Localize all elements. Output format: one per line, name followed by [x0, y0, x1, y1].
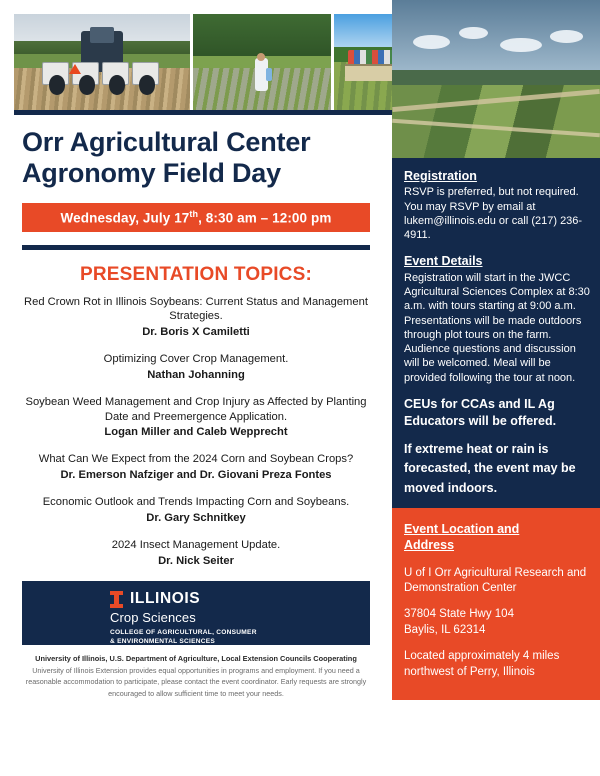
event-location-heading-line1: Event Location and [404, 521, 588, 537]
date-banner-suffix: , 8:30 am – 12:00 pm [198, 210, 331, 225]
illinois-block-i-icon [110, 591, 123, 608]
topic-item: What Can We Expect from the 2024 Corn an… [14, 452, 378, 482]
location-directions: Located approximately 4 miles northwest … [404, 649, 588, 680]
info-sidebar: Registration RSVP is preferred, but not … [392, 158, 600, 776]
page-title-line2: Agronomy Field Day [22, 158, 374, 189]
logo-college-line1: COLLEGE OF AGRICULTURAL, CONSUMER [110, 628, 257, 637]
illinois-logo-block: ILLINOIS Crop Sciences COLLEGE OF AGRICU… [22, 581, 370, 645]
topic-title: Economic Outlook and Trends Impacting Co… [14, 495, 378, 509]
topic-speaker: Dr. Gary Schnitkey [14, 511, 378, 526]
sidebar-bottom-spacer [392, 700, 600, 776]
fineprint-block: University of Illinois, U.S. Department … [20, 653, 372, 699]
date-time-banner: Wednesday, July 17th, 8:30 am – 12:00 pm [22, 203, 370, 233]
topic-title: What Can We Expect from the 2024 Corn an… [14, 452, 378, 466]
page-title-line1: Orr Agricultural Center [22, 127, 374, 158]
topics-heading: PRESENTATION TOPICS: [0, 264, 392, 286]
topic-title: Red Crown Rot in Illinois Soybeans: Curr… [14, 295, 378, 324]
title-block: Orr Agricultural Center Agronomy Field D… [0, 115, 392, 190]
page-title: Orr Agricultural Center Agronomy Field D… [22, 127, 374, 190]
aerial-farmland-photo [392, 0, 600, 158]
topic-title: Optimizing Cover Crop Management. [14, 352, 378, 366]
section-divider-rule [22, 245, 370, 250]
flyer-page: Orr Agricultural Center Agronomy Field D… [0, 0, 600, 776]
topic-title: Soybean Weed Management and Crop Injury … [14, 395, 378, 424]
location-address-line1: 37804 State Hwy 104 [404, 607, 588, 622]
main-content-column: Orr Agricultural Center Agronomy Field D… [0, 115, 392, 776]
illinois-wordmark: ILLINOIS [130, 590, 200, 608]
fineprint-accommodation-text: University of Illinois Extension provide… [20, 665, 372, 698]
ceu-note: CEUs for CCAs and IL Ag Educators will b… [404, 396, 590, 429]
fineprint-cooperating-line: University of Illinois, U.S. Department … [20, 653, 372, 664]
weather-note: If extreme heat or rain is forecasted, t… [404, 440, 590, 498]
topic-speaker: Logan Miller and Caleb Wepprecht [14, 425, 378, 440]
field-scout-photo [193, 14, 331, 110]
date-banner-superscript: th [189, 209, 198, 219]
sidebar-navy-panel: Registration RSVP is preferred, but not … [392, 158, 600, 508]
sidebar-orange-panel: Event Location and Address U of I Orr Ag… [392, 508, 600, 700]
topic-speaker: Dr. Emerson Nafziger and Dr. Giovani Pre… [14, 468, 378, 483]
topic-speaker: Dr. Boris X Camiletti [14, 325, 378, 340]
location-name: U of I Orr Agricultural Research and Dem… [404, 566, 588, 597]
registration-text: RSVP is preferred, but not required. You… [404, 185, 590, 242]
registration-heading: Registration [404, 168, 590, 184]
topic-title: 2024 Insect Management Update. [14, 538, 378, 552]
logo-unit-name: Crop Sciences [110, 610, 257, 625]
topic-item: Soybean Weed Management and Crop Injury … [14, 395, 378, 439]
topic-speaker: Nathan Johanning [14, 368, 378, 383]
topic-item: Economic Outlook and Trends Impacting Co… [14, 495, 378, 525]
event-details-text: Registration will start in the JWCC Agri… [404, 271, 590, 385]
date-banner-prefix: Wednesday, July 17 [61, 210, 190, 225]
location-address-line2: Baylis, IL 62314 [404, 623, 588, 638]
tractor-planter-photo [14, 14, 190, 110]
topic-speaker: Dr. Nick Seiter [14, 554, 378, 569]
logo-college-name: COLLEGE OF AGRICULTURAL, CONSUMER & ENVI… [110, 628, 257, 647]
topic-item: Red Crown Rot in Illinois Soybeans: Curr… [14, 295, 378, 339]
topic-item: 2024 Insect Management Update. Dr. Nick … [14, 538, 378, 568]
event-details-heading: Event Details [404, 253, 590, 269]
event-location-heading-line2: Address [404, 537, 588, 553]
topic-item: Optimizing Cover Crop Management. Nathan… [14, 352, 378, 382]
event-location-heading: Event Location and Address [404, 521, 588, 554]
logo-college-line2: & ENVIRONMENTAL SCIENCES [110, 637, 257, 646]
